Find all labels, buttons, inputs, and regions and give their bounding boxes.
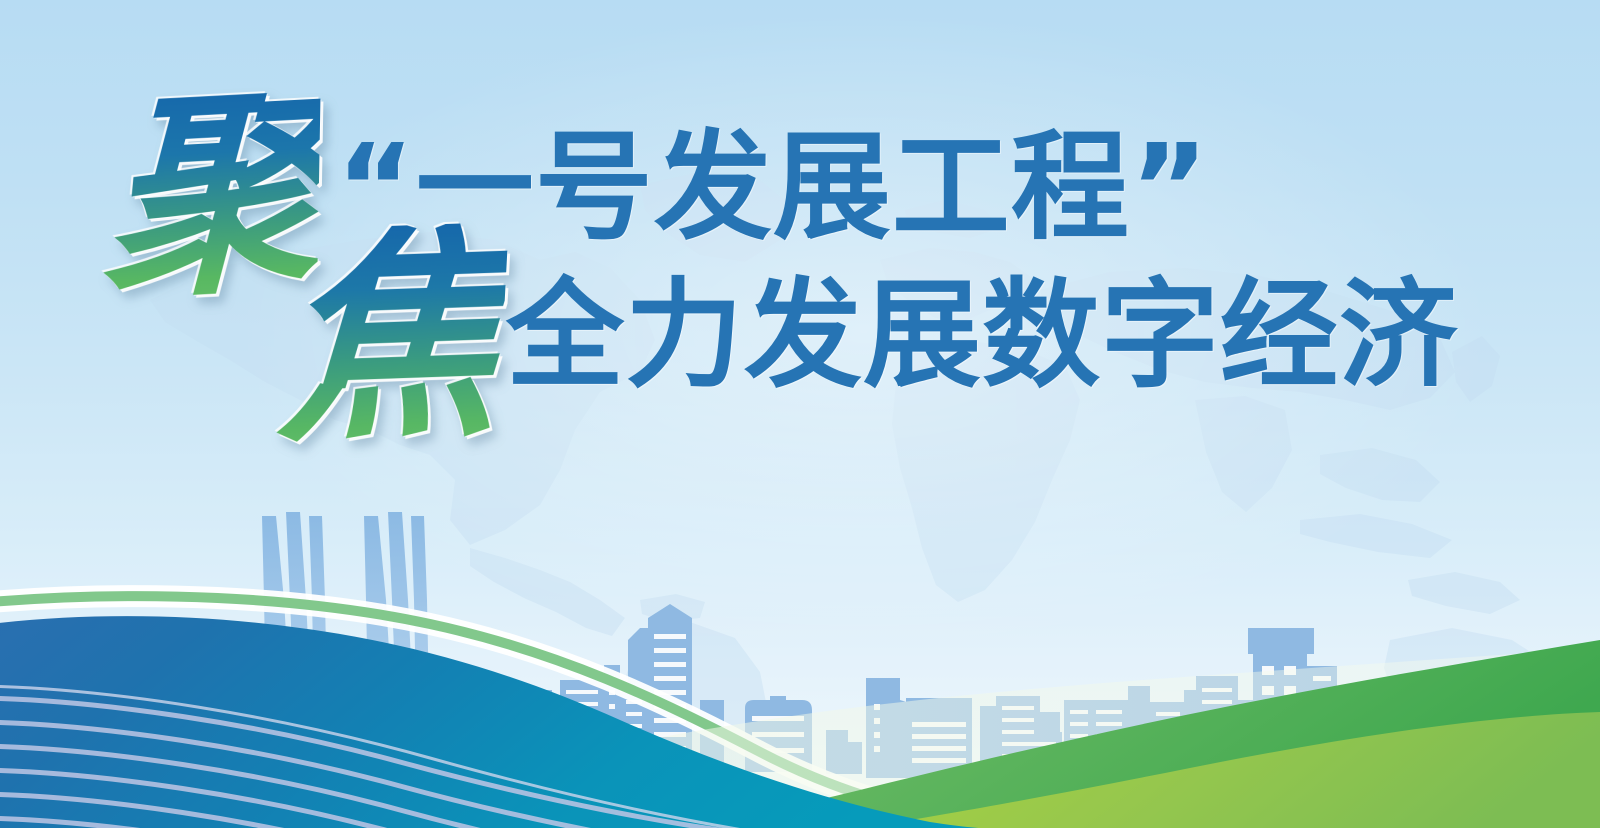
banner-root: 聚 焦 “一号发展工程” 全力发展数字经济 聚焦“一号发展工程” 全力发展数字经… <box>0 0 1600 828</box>
blue-wave <box>0 0 1600 828</box>
